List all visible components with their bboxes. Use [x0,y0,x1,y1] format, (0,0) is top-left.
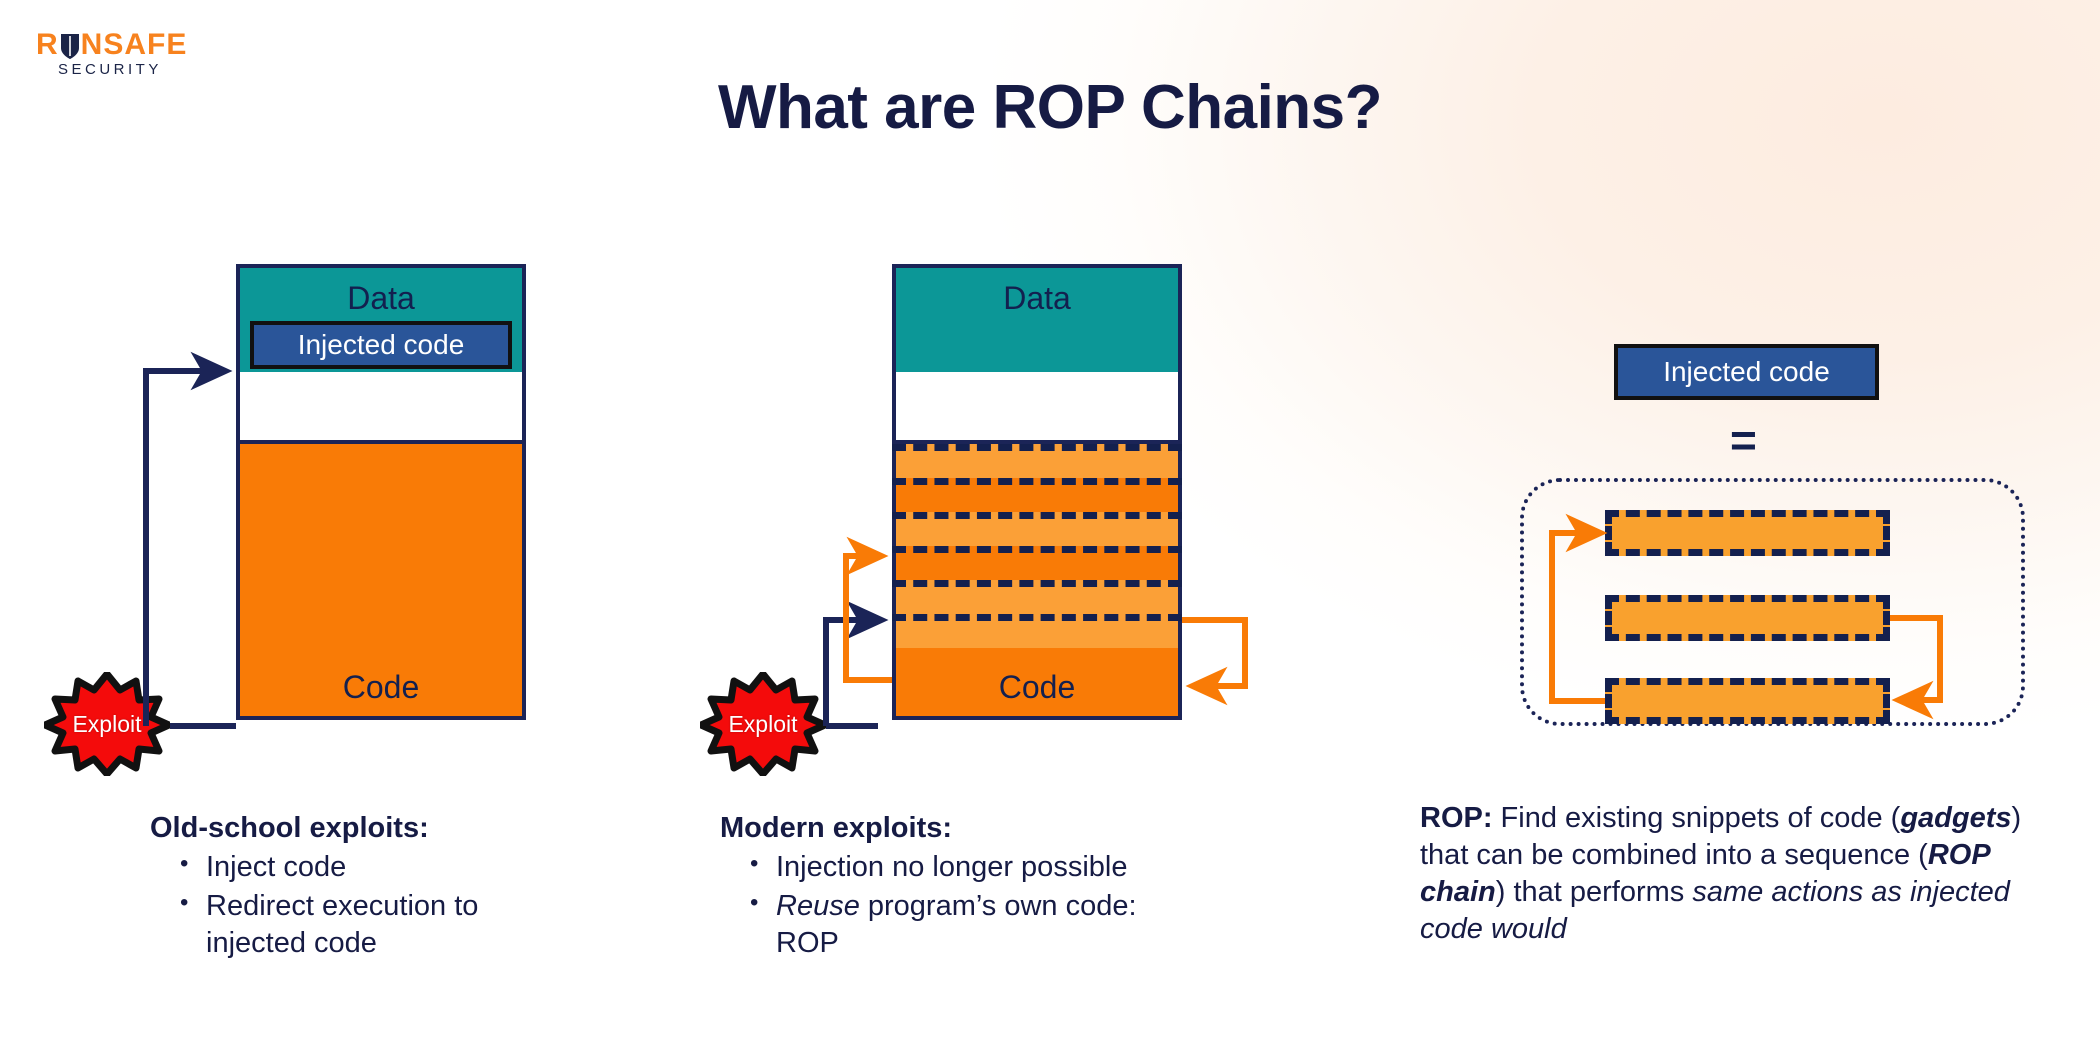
right-injected-code-label: Injected code [1663,358,1830,386]
gadget-divider [892,444,1182,451]
left-data-segment: Data Injected code [236,264,526,372]
shield-icon [60,33,80,60]
middle-exploit-burst: Exploit [700,672,826,776]
right-paragraph: ROP: Find existing snippets of code (gad… [1420,802,2021,945]
list-item-text: Injection no longer possible [776,851,1127,883]
list-item: Inject code [180,849,570,886]
gadget-divider [892,546,1182,553]
left-caption: Old-school exploits: Inject code Redirec… [150,810,570,962]
middle-code-segment: Code [892,440,1182,720]
middle-exploit-connector [826,620,878,726]
middle-gap-segment [892,372,1182,440]
left-injected-code-label: Injected code [298,331,465,359]
middle-rop-right-loop [1182,620,1245,686]
gadget-bar [1605,678,1890,724]
middle-data-label: Data [1003,280,1071,316]
gadget-divider [892,512,1182,519]
middle-data-segment: Data [892,264,1182,372]
gadget-divider [892,614,1182,621]
middle-exploit-label: Exploit [700,672,826,776]
left-exploit-label: Exploit [44,672,170,776]
left-code-segment: Code [236,440,526,720]
middle-memory-stack: Data Code [892,264,1182,720]
left-data-label: Data [347,280,415,316]
right-caption: ROP: Find existing snippets of code (gad… [1420,800,2060,948]
left-memory-stack: Data Injected code Code [236,264,526,720]
rop-em-gadgets: gadgets [1900,802,2011,834]
gadget-divider [892,580,1182,587]
left-exploit-burst: Exploit [44,672,170,776]
middle-bullet-list: Injection no longer possible Reuse progr… [720,849,1180,962]
list-item-emphasis: Reuse [776,890,860,922]
right-injected-code-box: Injected code [1614,344,1879,400]
left-injected-code-box: Injected code [250,321,512,369]
left-bullet-list: Inject code Redirect execution to inject… [150,849,570,962]
logo-letter-r: R [36,30,59,60]
rop-seg1: Find existing snippets of code ( [1493,802,1901,834]
equals-sign: = [1730,422,1757,459]
left-gap-segment [236,372,526,440]
left-code-label: Code [343,669,420,706]
middle-rop-return-arrow [846,556,892,680]
middle-caption-heading: Modern exploits: [720,810,1180,847]
logo-wordmark: R NSAFE [36,30,296,60]
gadget-divider [892,478,1182,485]
gadget-bar [1605,595,1890,641]
list-item: Redirect execution to injected code [180,888,570,962]
rop-seg3: ) that performs [1496,876,1693,908]
middle-caption: Modern exploits: Injection no longer pos… [720,810,1180,962]
gadget-bar [1605,510,1890,556]
left-caption-heading: Old-school exploits: [150,810,570,847]
rop-lead: ROP: [1420,802,1493,834]
middle-code-label: Code [999,669,1076,706]
logo-letters-nsafe: NSAFE [81,30,188,60]
page-title: What are ROP Chains? [0,72,2100,143]
list-item: Injection no longer possible [750,849,1180,886]
list-item: Reuse program’s own code: ROP [750,888,1180,962]
runsafe-logo: R NSAFE SECURITY [36,30,296,78]
